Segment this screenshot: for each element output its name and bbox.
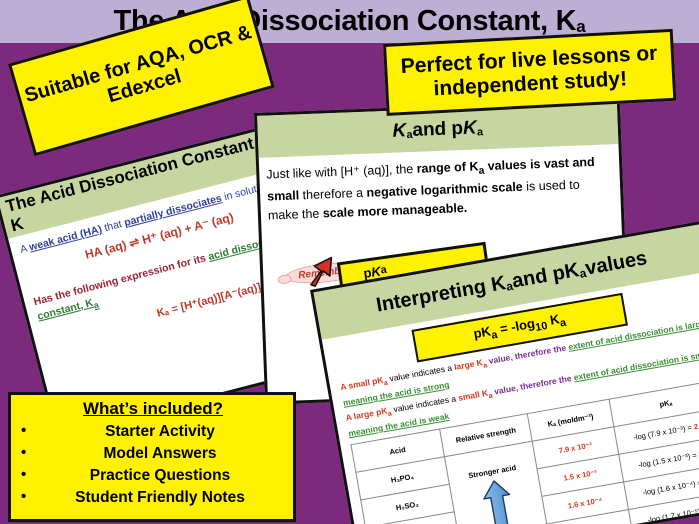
callout-live-lessons: Perfect for live lessons or independent … bbox=[383, 29, 676, 116]
poster-canvas: The Acid Dissociation Constant, Ka The A… bbox=[0, 0, 699, 524]
whats-included-title: What’s included? bbox=[21, 399, 285, 419]
pk-strip-sub: a bbox=[380, 264, 388, 277]
slide2-heading-b: and p bbox=[412, 118, 463, 142]
pka-eq-a: pK bbox=[472, 323, 492, 341]
slide2-body-2: range of K bbox=[416, 159, 478, 175]
slide2-body-5: negative logarithmic scale bbox=[366, 180, 523, 200]
pka-eq-c: K bbox=[545, 311, 560, 328]
pka-expr: -log (7.9 x 10⁻³) = bbox=[633, 422, 695, 442]
slide2-body-7: scale more manageable. bbox=[323, 201, 468, 221]
pka-expr: -log (1.7 x 10⁻⁵) = bbox=[647, 505, 699, 524]
list-item: Practice Questions bbox=[19, 465, 285, 487]
slide2-body-1: Just like with [H⁺ (aq)], the bbox=[266, 162, 417, 182]
s3-small-a: A small pK bbox=[340, 375, 385, 392]
slide2-heading-sub2: a bbox=[477, 126, 484, 138]
slide1-line1-c: that bbox=[100, 217, 126, 234]
s3-large-c: small K bbox=[457, 388, 489, 403]
list-item: Student Friendly Notes bbox=[19, 487, 285, 509]
slide2-body-4: therefore a bbox=[299, 186, 367, 203]
list-item: Starter Activity bbox=[19, 421, 285, 443]
up-arrow-icon bbox=[479, 476, 518, 524]
pka-expr: -log (1.5 x 10⁻³) = bbox=[637, 450, 699, 470]
slide2-heading-sub1: a bbox=[406, 129, 413, 141]
slide3-heading-c: values bbox=[584, 247, 649, 280]
callout-whats-included: What’s included? Starter Activity Model … bbox=[8, 392, 296, 522]
pka-val: 2.10 bbox=[693, 420, 699, 431]
slide1-line2-sub: a bbox=[92, 299, 99, 310]
red-arrow-icon bbox=[303, 251, 341, 289]
s3-small-c: large K bbox=[453, 358, 483, 373]
slide2-heading-a: K bbox=[392, 120, 407, 143]
pka-expr: -log (1.6 x 10⁻⁴) = bbox=[642, 477, 699, 497]
pka-eq-b: = -log bbox=[495, 316, 536, 337]
whats-included-list: Starter Activity Model Answers Practice … bbox=[19, 421, 285, 510]
slide2-heading-c: K bbox=[463, 117, 478, 140]
list-item: Model Answers bbox=[19, 443, 285, 465]
slide3-heading-b: and pK bbox=[510, 259, 581, 293]
pka-eq-sub3: a bbox=[559, 317, 567, 330]
slide2-body: Just like with [H⁺ (aq)], the range of K… bbox=[259, 144, 622, 233]
